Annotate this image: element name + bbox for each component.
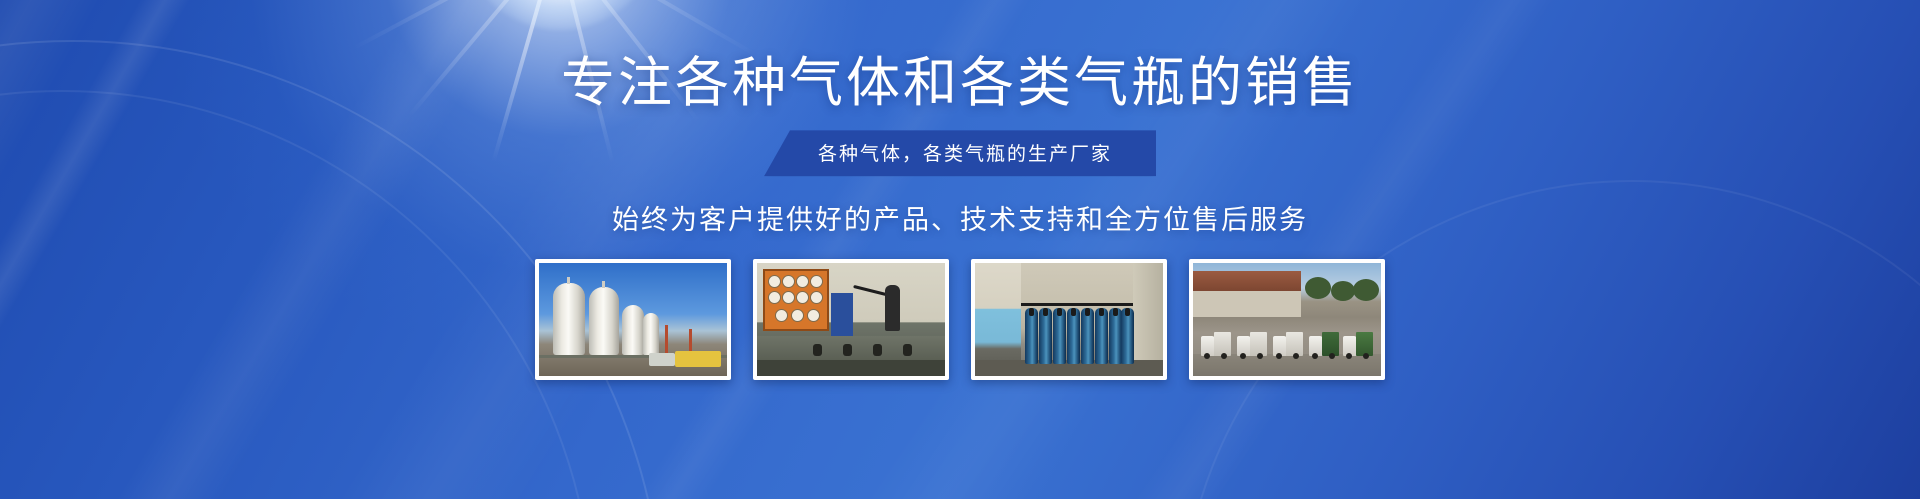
gas-cylinder — [1121, 308, 1134, 364]
delivery-truck — [1309, 326, 1339, 356]
delivery-truck — [1237, 326, 1267, 356]
valve-knob — [873, 344, 882, 356]
gas-cylinder — [1067, 308, 1080, 364]
gas-cylinder — [885, 285, 900, 331]
cylinder-valve — [1057, 308, 1062, 316]
hero-banner: 专注各种气体和各类气瓶的销售 各种气体，各类气瓶的生产厂家 始终为客户提供好的产… — [0, 0, 1920, 499]
pressure-gauge-icon — [796, 291, 809, 304]
ribbon-container: 各种气体，各类气瓶的生产厂家 — [0, 130, 1920, 176]
storage-tank — [553, 283, 585, 355]
vehicle-shape — [649, 353, 675, 366]
work-bench-edge — [757, 360, 945, 376]
gas-cylinder — [1095, 308, 1108, 364]
storage-tank — [643, 313, 659, 355]
pressure-gauge-icon — [810, 275, 823, 288]
banner-tagline: 始终为客户提供好的产品、技术支持和全方位售后服务 — [0, 198, 1920, 237]
pressure-gauge-icon — [796, 275, 809, 288]
storage-tank — [589, 287, 619, 355]
control-panel — [763, 269, 829, 331]
pressure-gauge-icon — [807, 309, 820, 322]
cylinder-valve — [1071, 308, 1076, 316]
delivery-truck — [1343, 326, 1373, 356]
gas-cylinder — [1025, 308, 1038, 364]
pressure-gauge-icon — [810, 291, 823, 304]
cylinder-valve — [1113, 308, 1118, 316]
gas-cylinder — [1053, 308, 1066, 364]
pressure-gauge-icon — [791, 309, 804, 322]
valve-knob — [813, 344, 822, 356]
delivery-truck — [1201, 326, 1231, 356]
tank-cap — [602, 281, 605, 288]
gas-cylinder — [1039, 308, 1052, 364]
photo-delivery-trucks[interactable]: 送气货车车队 — [1189, 259, 1385, 380]
photo-cylinder-rack[interactable]: 蓝色气瓶排列在车间内 — [971, 259, 1167, 380]
gas-cylinder — [1081, 308, 1094, 364]
cylinder-valve — [1099, 308, 1104, 316]
cylinder-valve — [1029, 308, 1034, 316]
cylinder-valve — [1085, 308, 1090, 316]
pressure-gauge-icon — [775, 309, 788, 322]
valve-knob — [903, 344, 912, 356]
vehicle-shape — [675, 351, 721, 367]
manifold-pipe — [1021, 303, 1133, 306]
storage-tank — [622, 305, 644, 355]
pressure-gauge-icon — [782, 291, 795, 304]
banner-content: 专注各种气体和各类气瓶的销售 各种气体，各类气瓶的生产厂家 始终为客户提供好的产… — [0, 0, 1920, 380]
gas-hose — [853, 285, 887, 296]
photo-strip: 白色低温储罐与管道 充装控制台仪表盘 — [0, 259, 1920, 380]
cylinder-valve — [1125, 308, 1130, 316]
pressure-gauge-icon — [768, 291, 781, 304]
tree — [1331, 281, 1355, 301]
building-wall — [1193, 291, 1301, 317]
pressure-gauge-icon — [768, 275, 781, 288]
photo-filling-panel[interactable]: 充装控制台仪表盘 — [753, 259, 949, 380]
cylinder-valve — [1043, 308, 1048, 316]
delivery-truck — [1273, 326, 1303, 356]
tree — [1353, 279, 1379, 301]
tree — [1305, 277, 1331, 299]
photo-storage-tanks[interactable]: 白色低温储罐与管道 — [535, 259, 731, 380]
building-roof — [1193, 271, 1301, 293]
valve-knob — [843, 344, 852, 356]
pressure-gauge-icon — [782, 275, 795, 288]
banner-ribbon-label: 各种气体，各类气瓶的生产厂家 — [764, 130, 1156, 176]
banner-headline: 专注各种气体和各类气瓶的销售 — [0, 0, 1920, 112]
tank-cap — [567, 277, 570, 284]
